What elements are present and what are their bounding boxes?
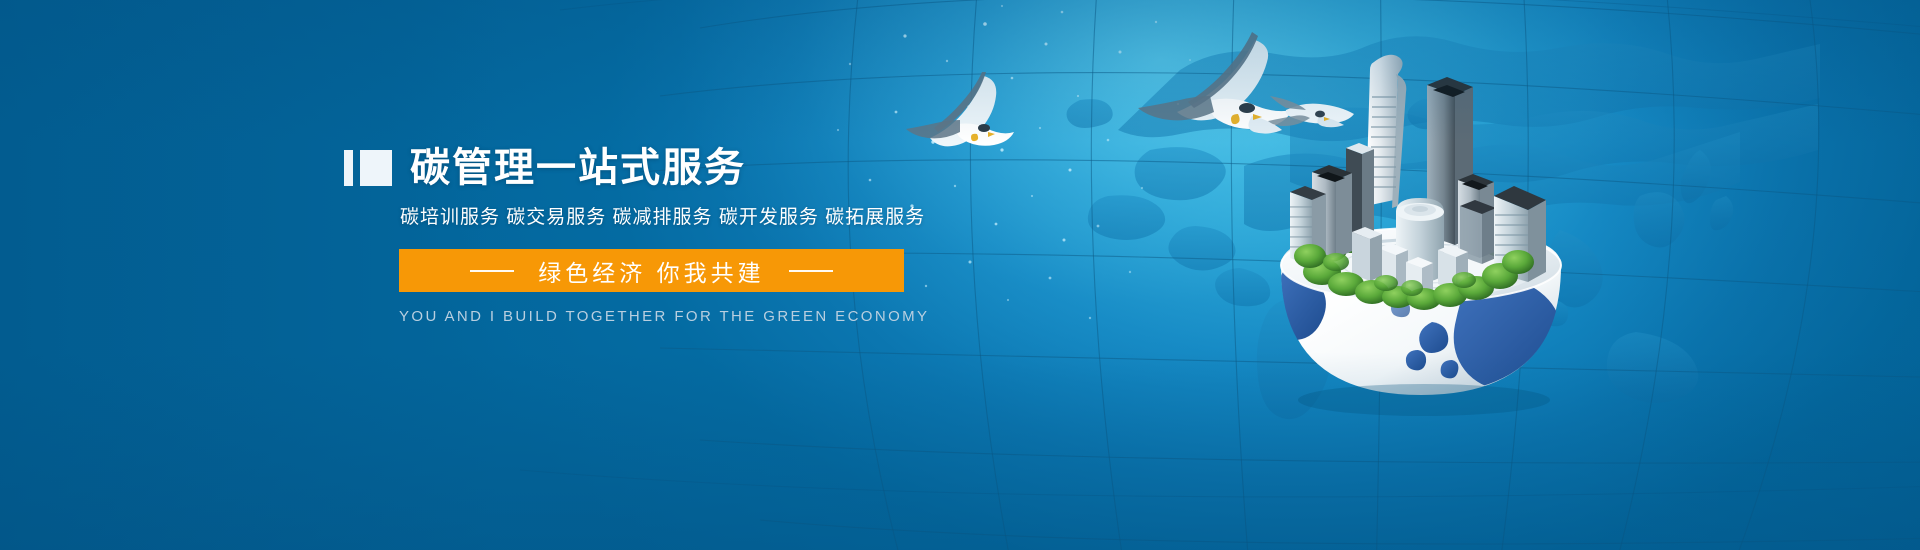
service-list: 碳培训服务 碳交易服务 碳减排服务 碳开发服务 碳拓展服务	[400, 205, 1064, 231]
slogan-text: 绿色经济 你我共建	[538, 254, 764, 288]
title-row: 碳管理一站式服务	[344, 142, 1064, 194]
english-tagline: YOU AND I BUILD TOGETHER FOR THE GREEN E…	[399, 308, 1064, 325]
hero-banner: 碳管理一站式服务 碳培训服务 碳交易服务 碳减排服务 碳开发服务 碳拓展服务 绿…	[0, 0, 1920, 550]
bar-square-mark-icon	[344, 150, 392, 186]
page-title: 碳管理一站式服务	[410, 146, 746, 190]
banner-content: 碳管理一站式服务 碳培训服务 碳交易服务 碳减排服务 碳开发服务 碳拓展服务 绿…	[344, 142, 1064, 325]
slogan-rule-left	[470, 270, 514, 272]
mark-square	[360, 150, 392, 186]
slogan-banner: 绿色经济 你我共建	[399, 249, 904, 292]
slogan-rule-right	[789, 270, 833, 272]
mark-bar	[344, 150, 353, 186]
